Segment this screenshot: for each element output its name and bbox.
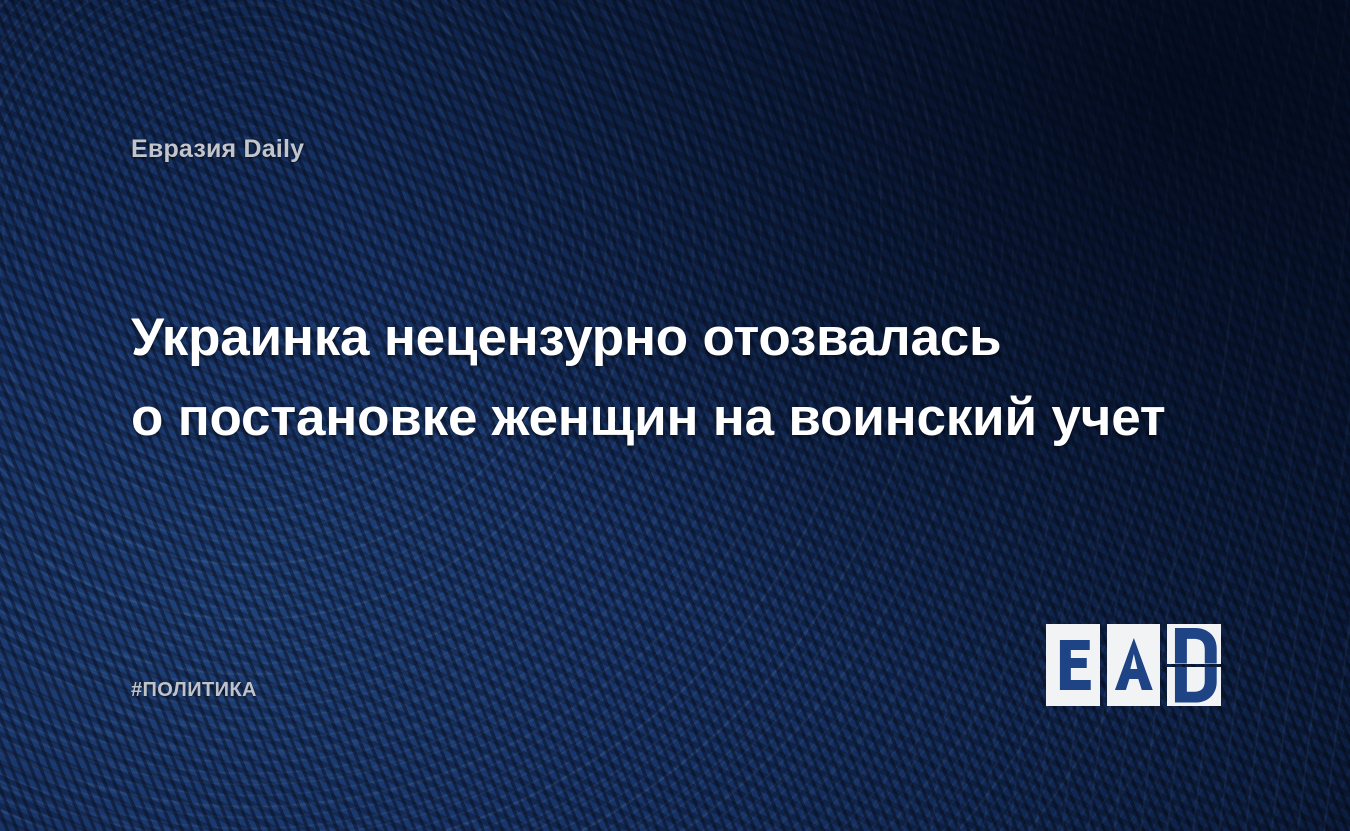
logo-column-2 [1107, 624, 1161, 706]
headline-line-2: о постановке женщин на воинский учет [131, 378, 1241, 458]
category-hashtag[interactable]: #ПОЛИТИКА [131, 679, 257, 702]
eadaily-logo[interactable] [1046, 624, 1221, 706]
card-content: Евразия Daily Украинка нецензурно отозва… [0, 0, 1350, 831]
logo-column-1 [1046, 624, 1100, 706]
logo-letter-d-bottom-icon [1167, 667, 1221, 707]
logo-tile-a [1107, 624, 1161, 706]
logo-letter-e-icon [1046, 624, 1100, 706]
logo-letter-d-top-icon [1167, 624, 1221, 664]
headline: Украинка нецензурно отозвалась о постано… [131, 298, 1241, 458]
logo-tile-d-top [1167, 624, 1221, 664]
logo-tile-e [1046, 624, 1100, 706]
logo-tile-d-bottom [1167, 667, 1221, 707]
logo-letter-a-icon [1107, 624, 1161, 706]
brand-name: Евразия Daily [131, 135, 304, 164]
headline-line-1: Украинка нецензурно отозвалась [131, 298, 1241, 378]
logo-column-3 [1167, 624, 1221, 706]
news-card: Евразия Daily Украинка нецензурно отозва… [0, 0, 1350, 831]
